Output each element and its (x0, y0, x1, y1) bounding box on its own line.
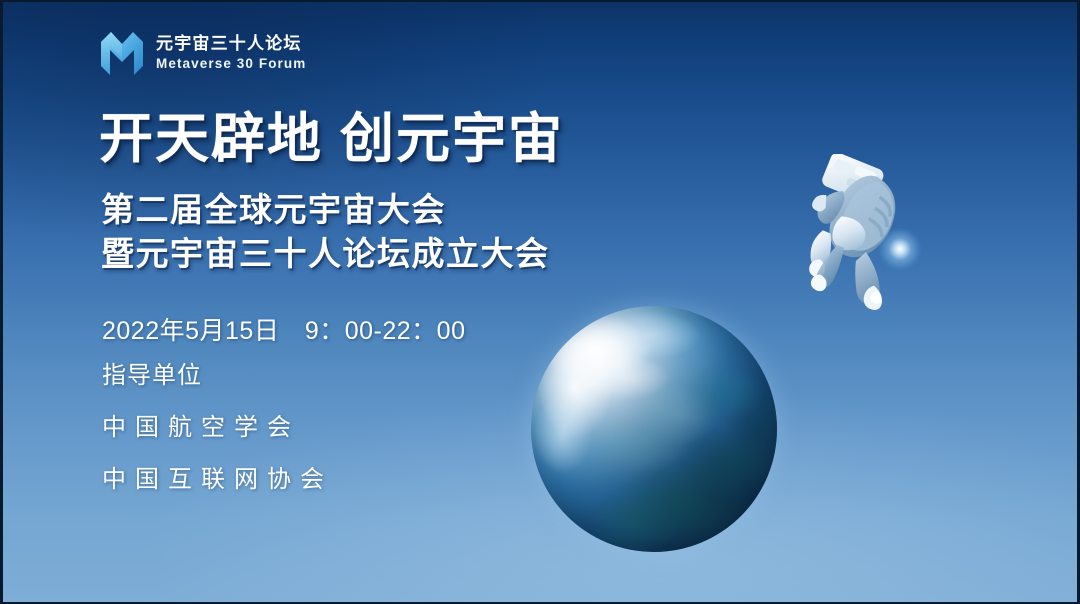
event-poster: 元宇宙三十人论坛 Metaverse 30 Forum 开天辟地 创元宇宙 第二… (0, 0, 1080, 604)
guiding-organizations: 指导单位 中国航空学会 中国互联网协会 (102, 355, 333, 494)
organizer-item: 中国航空学会 (102, 407, 333, 442)
organizer-item: 中国互联网协会 (102, 459, 333, 494)
earth-globe (531, 306, 777, 552)
poster-subtitle: 第二届全球元宇宙大会 暨元宇宙三十人论坛成立大会 (101, 188, 550, 275)
astronaut-figure (783, 154, 943, 322)
event-datetime: 2022年5月15日 9：00-22：00 (102, 311, 465, 347)
metaverse-m-logo-icon (99, 28, 145, 78)
forum-logo-text: 元宇宙三十人论坛 Metaverse 30 Forum (156, 35, 306, 71)
forum-logo: 元宇宙三十人论坛 Metaverse 30 Forum (99, 28, 306, 78)
globe-sphere (531, 306, 777, 552)
forum-name-en: Metaverse 30 Forum (156, 57, 306, 71)
subtitle-line-1: 第二届全球元宇宙大会 (101, 188, 550, 232)
subtitle-line-2: 暨元宇宙三十人论坛成立大会 (101, 232, 550, 276)
globe-shading-layer (531, 306, 777, 552)
poster-headline: 开天辟地 创元宇宙 (99, 94, 564, 173)
forum-name-cn: 元宇宙三十人论坛 (156, 35, 306, 52)
organizers-label: 指导单位 (102, 355, 333, 390)
